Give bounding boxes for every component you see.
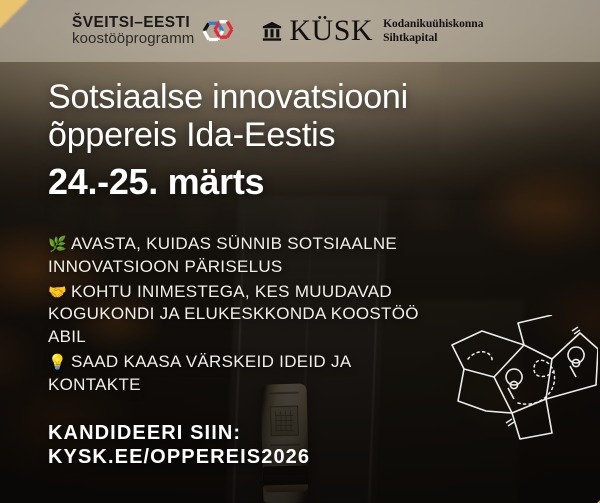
logo-sveitsi-line2: koostööprogramm bbox=[72, 31, 194, 46]
cta-label: KANDIDEERI SIIN: bbox=[48, 421, 568, 445]
herb-icon: 🌿 bbox=[48, 235, 67, 253]
poster-content: Sotsiaalse innovatsiooni õppereis Ida-Ee… bbox=[48, 78, 568, 469]
page-title: Sotsiaalse innovatsiooni õppereis Ida-Ee… bbox=[48, 78, 530, 154]
logo-sveitsi-text: ŠVEITSI–EESTI koostööprogramm bbox=[72, 15, 194, 46]
logo-kusk: KÜSK Kodanikuühiskonna Sihtkapital bbox=[261, 16, 483, 46]
event-date: 24.-25. märts bbox=[48, 161, 568, 203]
logo-kusk-sub-line2: Sihtkapital bbox=[383, 31, 483, 45]
interlocking-hexagons-icon bbox=[201, 14, 235, 48]
logo-kusk-subtitle: Kodanikuühiskonna Sihtkapital bbox=[383, 17, 483, 46]
list-item-text: SAAD KAASA VÄRSKEID IDEID JA KONTAKTE bbox=[48, 352, 351, 394]
list-item: 🌿AVASTA, KUIDAS SÜNNIB SOTSIAALNE INNOVA… bbox=[48, 233, 448, 279]
list-item-text: AVASTA, KUIDAS SÜNNIB SOTSIAALNE INNOVAT… bbox=[48, 234, 397, 276]
list-item: 🤝KOHTU INIMESTEGA, KES MUUDAVAD KOGUKOND… bbox=[48, 281, 448, 349]
call-to-action[interactable]: KANDIDEERI SIIN: KYSK.EE/OPPEREIS2026 bbox=[48, 421, 568, 470]
logo-kusk-wordmark: KÜSK bbox=[289, 16, 373, 46]
cta-url[interactable]: KYSK.EE/OPPEREIS2026 bbox=[48, 445, 568, 469]
list-item: 💡SAAD KAASA VÄRSKEID IDEID JA KONTAKTE bbox=[48, 351, 448, 397]
bank-columns-icon bbox=[261, 20, 283, 42]
partner-logo-row: ŠVEITSI–EESTI koostööprogramm bbox=[0, 0, 600, 62]
benefit-list: 🌿AVASTA, KUIDAS SÜNNIB SOTSIAALNE INNOVA… bbox=[48, 233, 568, 396]
logo-kusk-sub-line1: Kodanikuühiskonna bbox=[383, 17, 483, 31]
logo-sveitsi-line1: ŠVEITSI–EESTI bbox=[72, 15, 194, 31]
list-item-text: KOHTU INIMESTEGA, KES MUUDAVAD KOGUKONDI… bbox=[48, 282, 419, 347]
lightbulb-icon: 💡 bbox=[48, 353, 67, 371]
logo-sveitsi-eesti: ŠVEITSI–EESTI koostööprogramm bbox=[72, 14, 235, 48]
handshake-icon: 🤝 bbox=[48, 283, 67, 301]
poster-canvas: ŠVEITSI–EESTI koostööprogramm bbox=[0, 0, 600, 503]
